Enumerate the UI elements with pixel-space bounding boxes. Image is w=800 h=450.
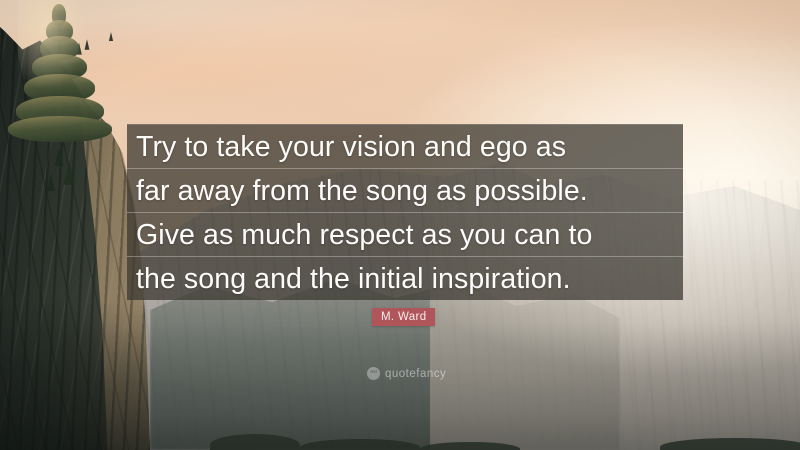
quotefancy-watermark: ““ quotefancy [367, 367, 446, 380]
author-attribution-badge: M. Ward [372, 308, 435, 326]
quote-mark-icon: ““ [367, 367, 380, 380]
quote-line: Give as much respect as you can to [127, 212, 683, 256]
watermark-brand-label: quotefancy [385, 368, 446, 380]
quote-line: far away from the song as possible. [127, 168, 683, 212]
quote-poster: Try to take your vision and ego as far a… [0, 0, 800, 450]
quote-line: the song and the initial inspiration. [127, 256, 683, 300]
quote-line: Try to take your vision and ego as [127, 124, 683, 168]
quote-text-block: Try to take your vision and ego as far a… [127, 124, 683, 300]
